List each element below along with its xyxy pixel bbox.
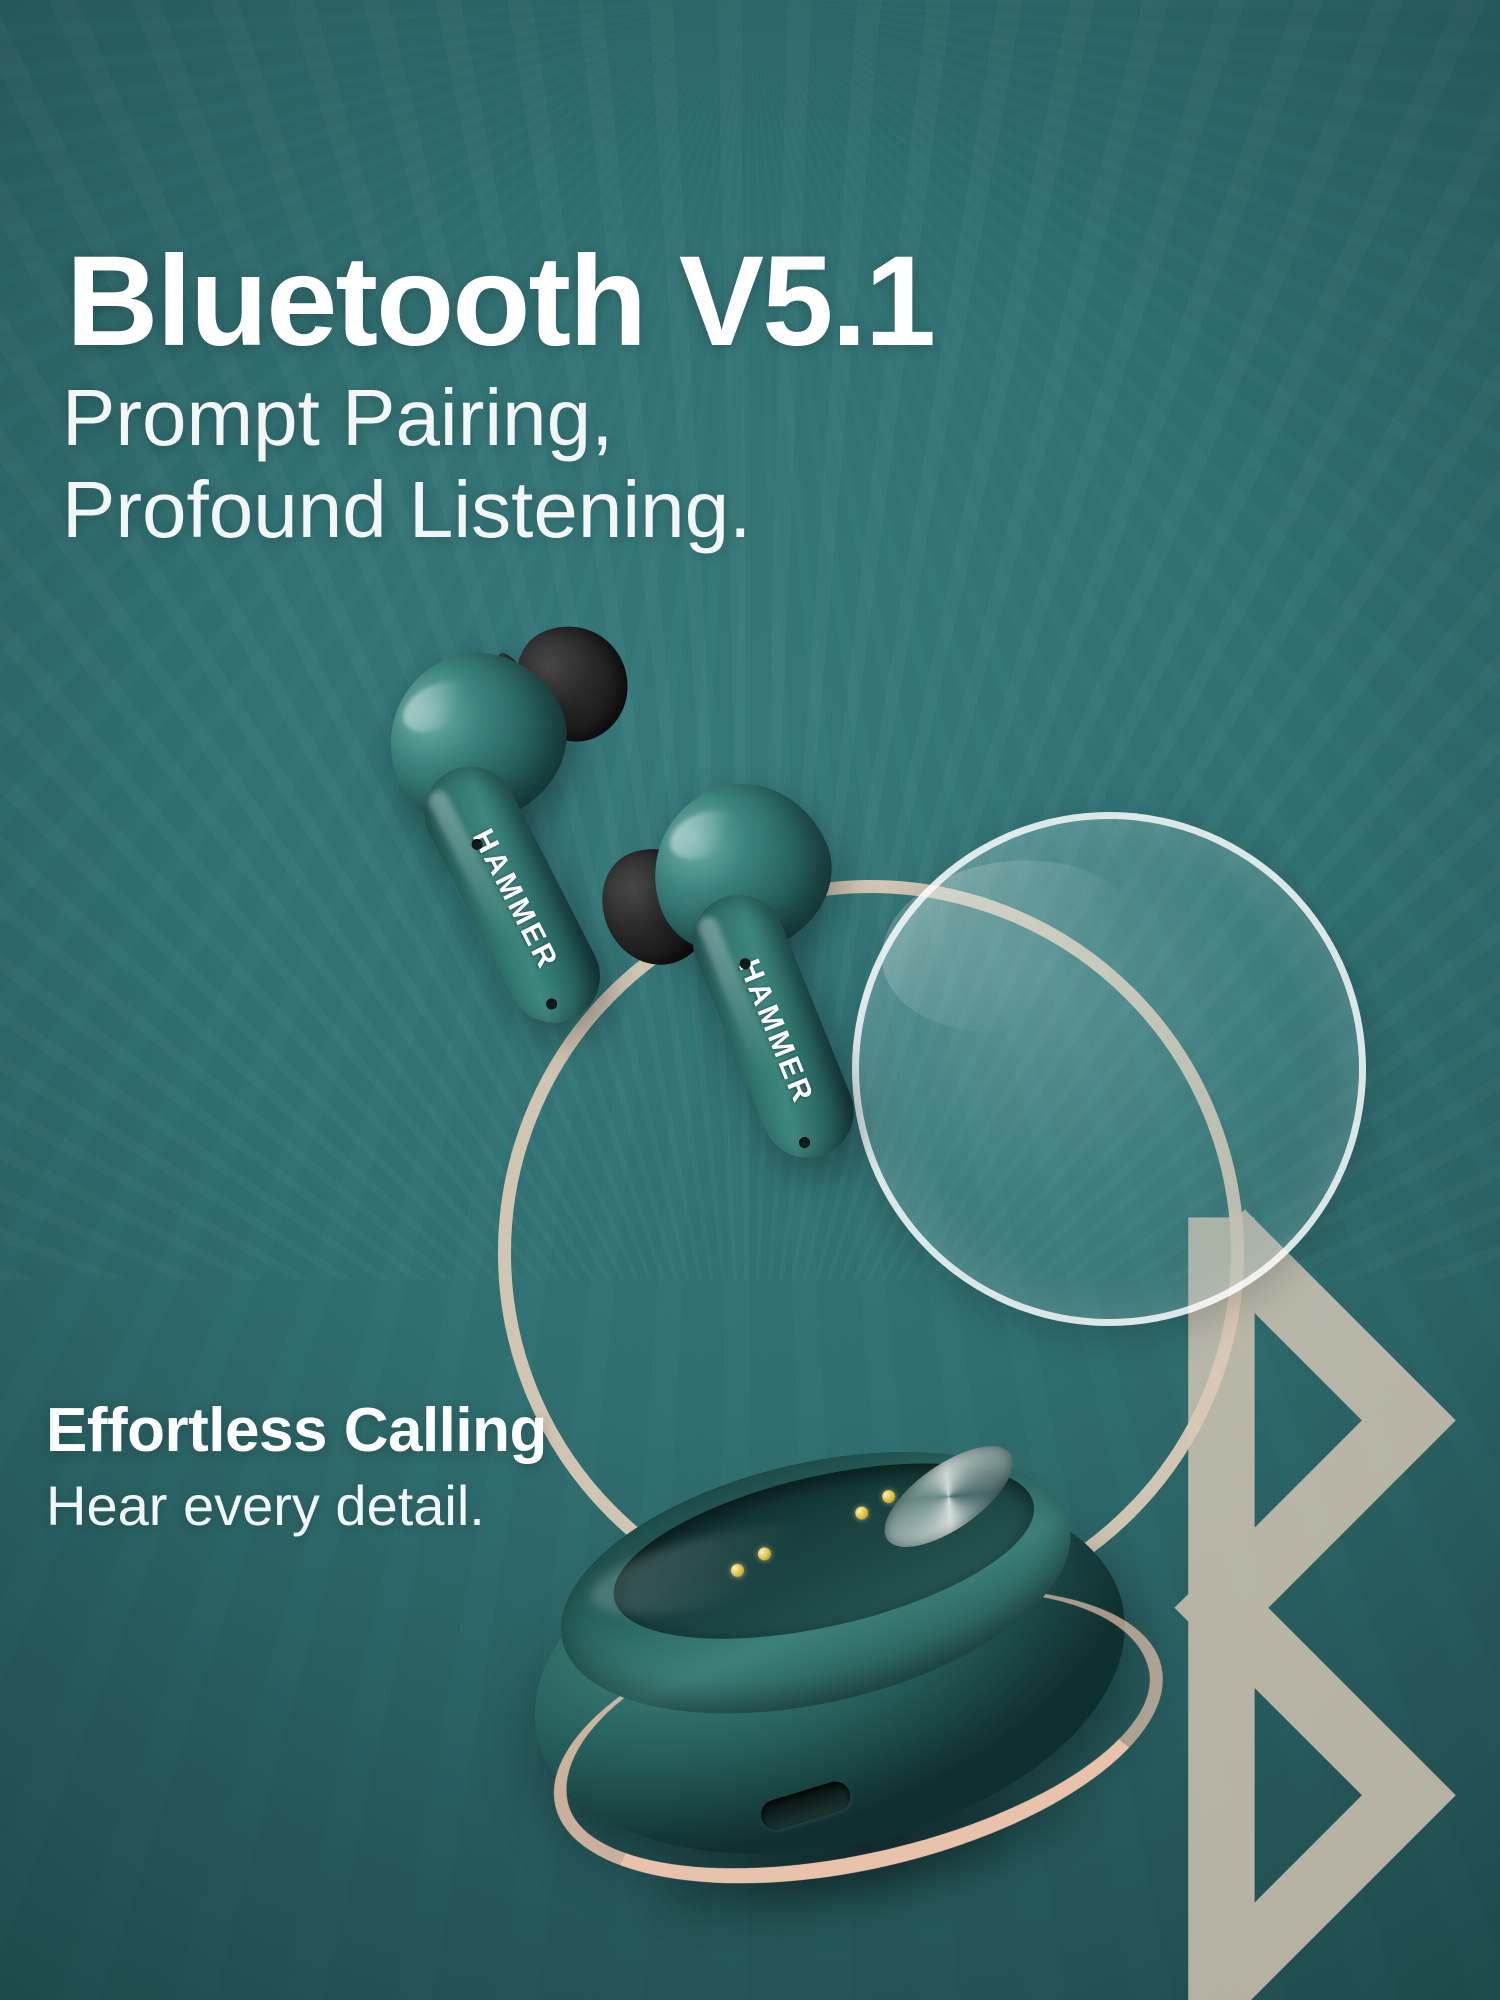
subheadline-line-2: Profound Listening.: [62, 464, 751, 556]
product-banner: Bluetooth V5.1 Prompt Pairing, Profound …: [0, 0, 1500, 2000]
feature-title: Effortless Calling: [46, 1398, 547, 1463]
feature-subtitle: Hear every detail.: [46, 1475, 547, 1537]
page-title: Bluetooth V5.1: [66, 238, 934, 366]
feature-callout: Effortless Calling Hear every detail.: [46, 1398, 547, 1537]
subheadline-line-1: Prompt Pairing,: [62, 372, 751, 464]
subheadline: Prompt Pairing, Profound Listening.: [62, 372, 751, 556]
